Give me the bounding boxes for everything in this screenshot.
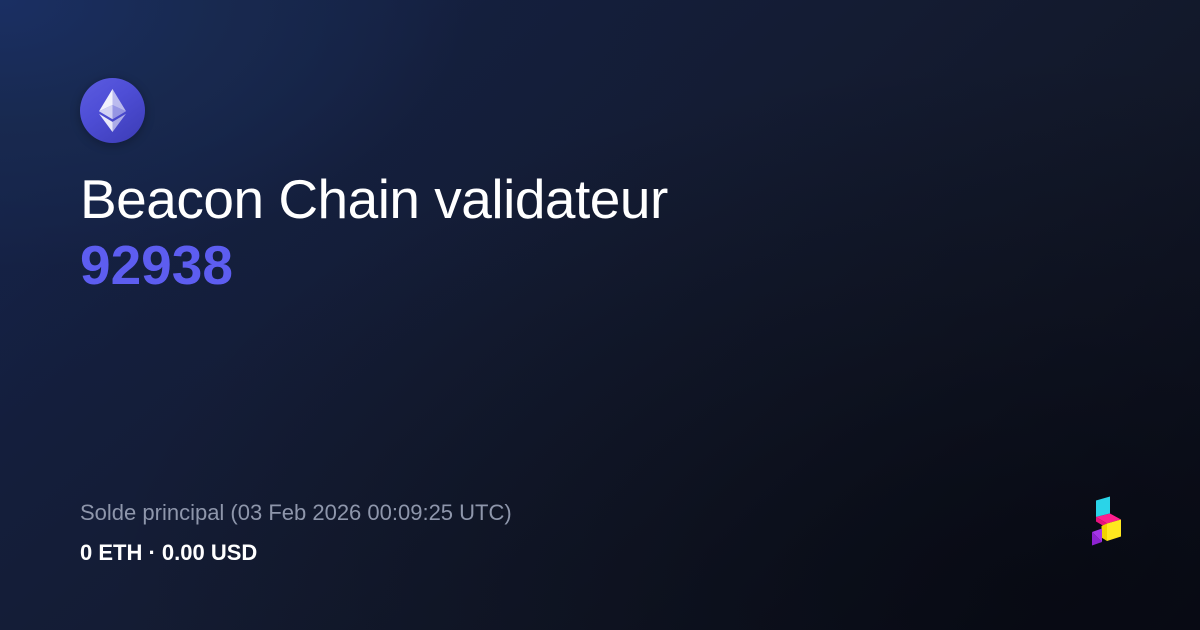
og-preview-card: Beacon Chain validateur 92938 Solde prin…: [0, 0, 1200, 630]
card-content: Beacon Chain validateur 92938 Solde prin…: [0, 0, 1200, 630]
ethereum-avatar: [80, 78, 145, 143]
balance-label: Solde principal (03 Feb 2026 00:09:25 UT…: [80, 499, 1120, 527]
balance-value: 0 ETH · 0.00 USD: [80, 539, 1120, 567]
ethereum-diamond-icon: [99, 89, 126, 132]
layout-spacer: [80, 295, 1120, 499]
headline-block: Beacon Chain validateur 92938: [80, 170, 1120, 295]
validator-index: 92938: [80, 236, 1120, 295]
page-title: Beacon Chain validateur: [80, 170, 1120, 229]
balance-block: Solde principal (03 Feb 2026 00:09:25 UT…: [80, 499, 1120, 566]
